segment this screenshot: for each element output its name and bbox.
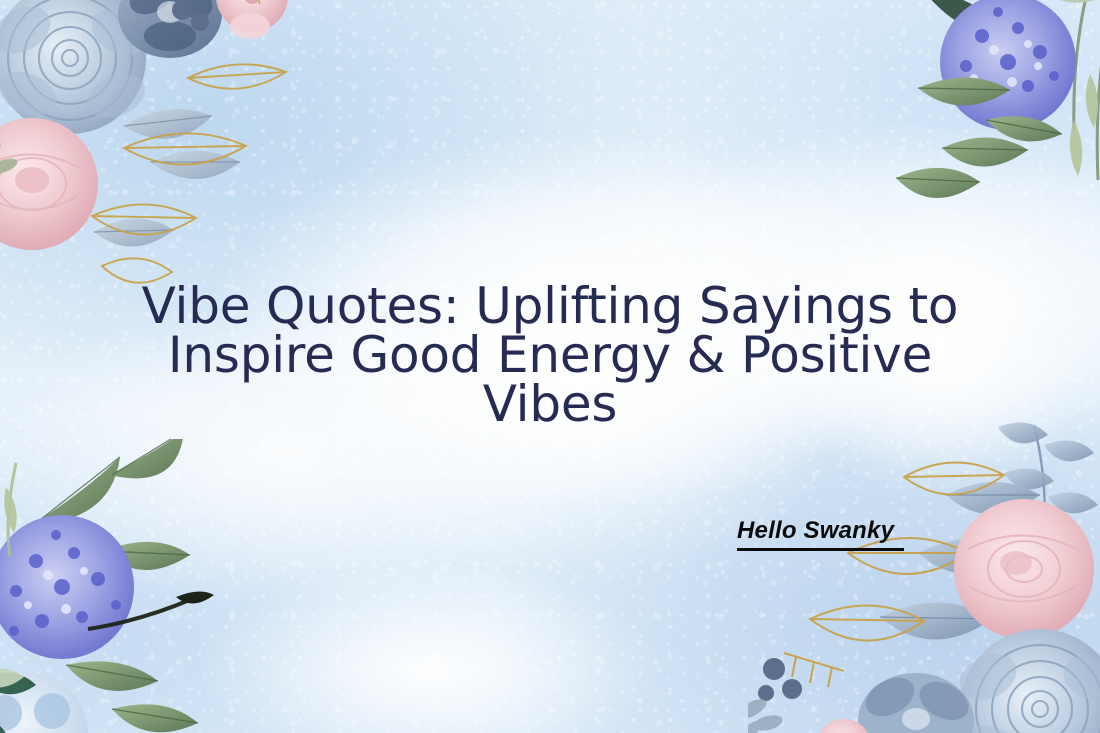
page-title-line-3: Vibes [120, 380, 980, 429]
page-title-line-2: Inspire Good Energy & Positive [120, 331, 980, 380]
blog-header-graphic: Vibe Quotes: Uplifting Sayings to Inspir… [0, 0, 1100, 733]
brand-underline [737, 548, 904, 551]
page-title: Vibe Quotes: Uplifting Sayings to Inspir… [120, 282, 980, 429]
brand-name: Hello Swanky [737, 518, 894, 544]
page-title-line-1: Vibe Quotes: Uplifting Sayings to [120, 282, 980, 331]
